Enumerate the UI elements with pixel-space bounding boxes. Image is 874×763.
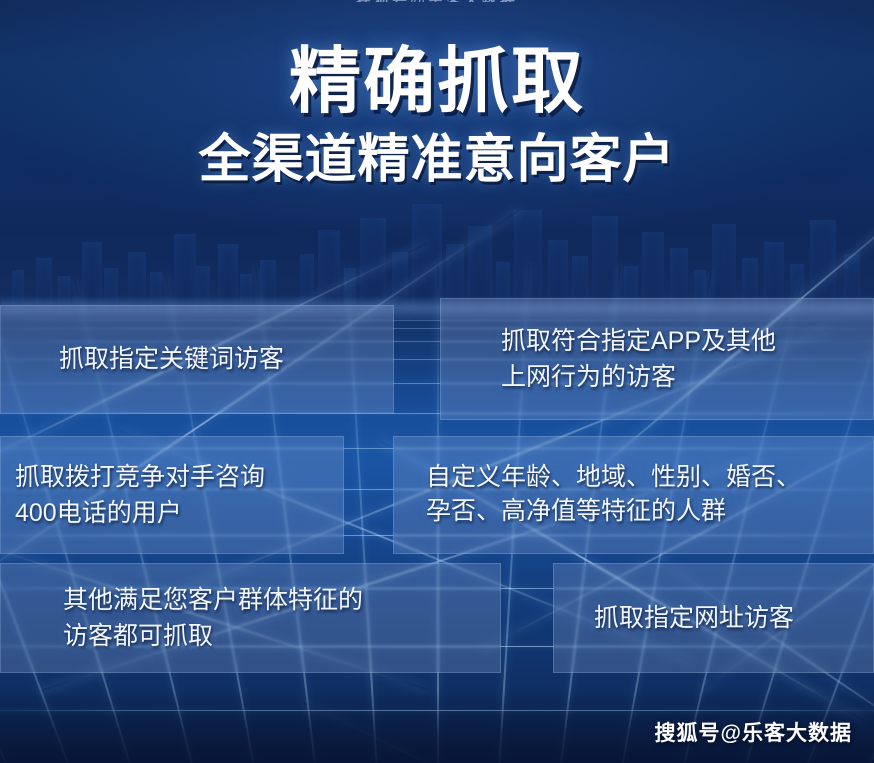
feature-text: 其他满足您客户群体特征的 访客都可抓取: [63, 582, 363, 655]
watermark-bottom-right: 搜狐号@乐客大数据: [655, 717, 852, 747]
feature-panel-other-traits[interactable]: 其他满足您客户群体特征的 访客都可抓取: [0, 563, 501, 673]
feature-text: 自定义年龄、地域、性别、婚否、 孕否、高净值等特征的人群: [426, 461, 801, 529]
city-skyline-silhouette: [0, 196, 874, 314]
feature-panel-keyword-visitors[interactable]: 抓取指定关键词访客: [0, 305, 394, 414]
feature-panel-url-visitors[interactable]: 抓取指定网址访客: [553, 563, 874, 673]
feature-text: 抓取指定网址访客: [594, 600, 794, 636]
feature-panel-custom-attributes[interactable]: 自定义年龄、地域、性别、婚否、 孕否、高净值等特征的人群: [393, 436, 874, 554]
headline-secondary: 全渠道精准意向客户: [0, 134, 874, 186]
watermark-top-cropped: 搜狐号@乐客大数据: [356, 0, 518, 2]
feature-text: 抓取指定关键词访客: [59, 341, 284, 377]
feature-text: 抓取拨打竞争对手咨询 400电话的用户: [15, 459, 265, 532]
headline-block: 精确抓取 全渠道精准意向客户: [0, 46, 874, 186]
poster-image: 搜狐号@乐客大数据 精确抓取 全渠道精准意向客户 抓取指定关键词访客 抓取符合指…: [0, 0, 874, 763]
feature-panel-competitor-400[interactable]: 抓取拨打竞争对手咨询 400电话的用户: [0, 436, 344, 554]
headline-primary: 精确抓取: [0, 46, 874, 118]
feature-text: 抓取符合指定APP及其他 上网行为的访客: [501, 323, 776, 396]
feature-panel-app-behavior[interactable]: 抓取符合指定APP及其他 上网行为的访客: [440, 298, 874, 420]
